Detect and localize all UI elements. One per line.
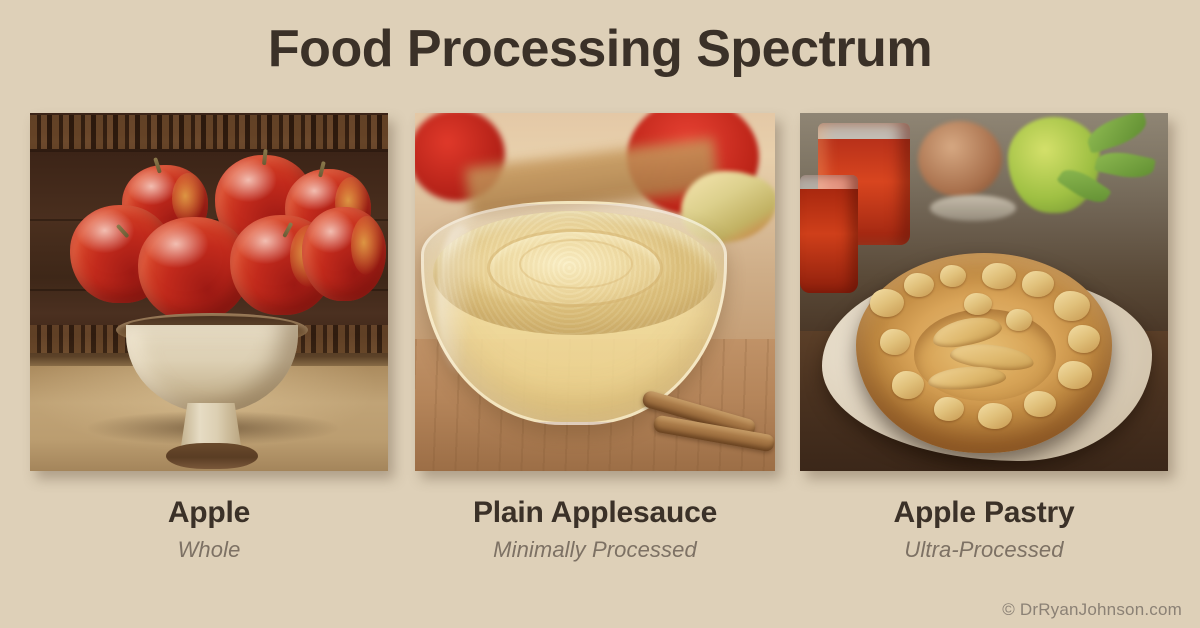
caption-title: Apple <box>30 496 388 531</box>
crumble-topping <box>978 403 1012 429</box>
crumble-topping <box>1006 309 1032 331</box>
glass-highlight <box>437 225 485 375</box>
crumble-topping <box>880 329 910 355</box>
footer: © DrRyanJohnson.com <box>1002 600 1182 620</box>
tea-glass-front <box>800 175 858 293</box>
crumble-topping <box>904 273 934 297</box>
photo-applesauce-bowl <box>415 113 775 471</box>
bowl-foot <box>166 443 258 469</box>
crumble-topping <box>1068 325 1100 353</box>
apple-fruit <box>302 207 386 301</box>
image-panel-apple-pastry[interactable] <box>800 113 1168 471</box>
crumble-topping <box>934 397 964 421</box>
crumble-topping <box>940 265 966 287</box>
image-panel-apple[interactable] <box>30 113 388 471</box>
infographic-root: Food Processing Spectrum <box>0 0 1200 628</box>
caption-row: Apple Whole Plain Applesauce Minimally P… <box>0 496 1200 586</box>
crumble-topping <box>892 371 924 399</box>
caption-apple: Apple Whole <box>30 496 388 563</box>
copyright-credit: © DrRyanJohnson.com <box>1002 600 1182 620</box>
background-apple <box>918 121 1002 197</box>
crumble-topping <box>870 289 904 317</box>
spoon <box>930 195 1016 221</box>
caption-title: Apple Pastry <box>800 496 1168 531</box>
carved-wood-band-top <box>30 115 388 149</box>
caption-title: Plain Applesauce <box>415 496 775 531</box>
crumble-topping <box>1054 291 1090 321</box>
plank-seam <box>30 149 388 152</box>
panel-row <box>0 113 1200 471</box>
caption-subtitle: Ultra-Processed <box>800 537 1168 563</box>
caption-applesauce: Plain Applesauce Minimally Processed <box>415 496 775 563</box>
photo-apple-bowl <box>30 113 388 471</box>
photo-apple-pastry <box>800 113 1168 471</box>
caption-subtitle: Minimally Processed <box>415 537 775 563</box>
caption-apple-pastry: Apple Pastry Ultra-Processed <box>800 496 1168 563</box>
crumble-topping <box>982 263 1016 289</box>
crumble-topping <box>1022 271 1054 297</box>
crumble-topping <box>964 293 992 315</box>
title-bar: Food Processing Spectrum <box>0 22 1200 77</box>
image-panel-applesauce[interactable] <box>415 113 775 471</box>
crumble-topping <box>1058 361 1092 389</box>
crumble-topping <box>1024 391 1056 417</box>
page-title: Food Processing Spectrum <box>0 22 1200 77</box>
applesauce-swirl-inner <box>519 239 633 289</box>
caption-subtitle: Whole <box>30 537 388 563</box>
